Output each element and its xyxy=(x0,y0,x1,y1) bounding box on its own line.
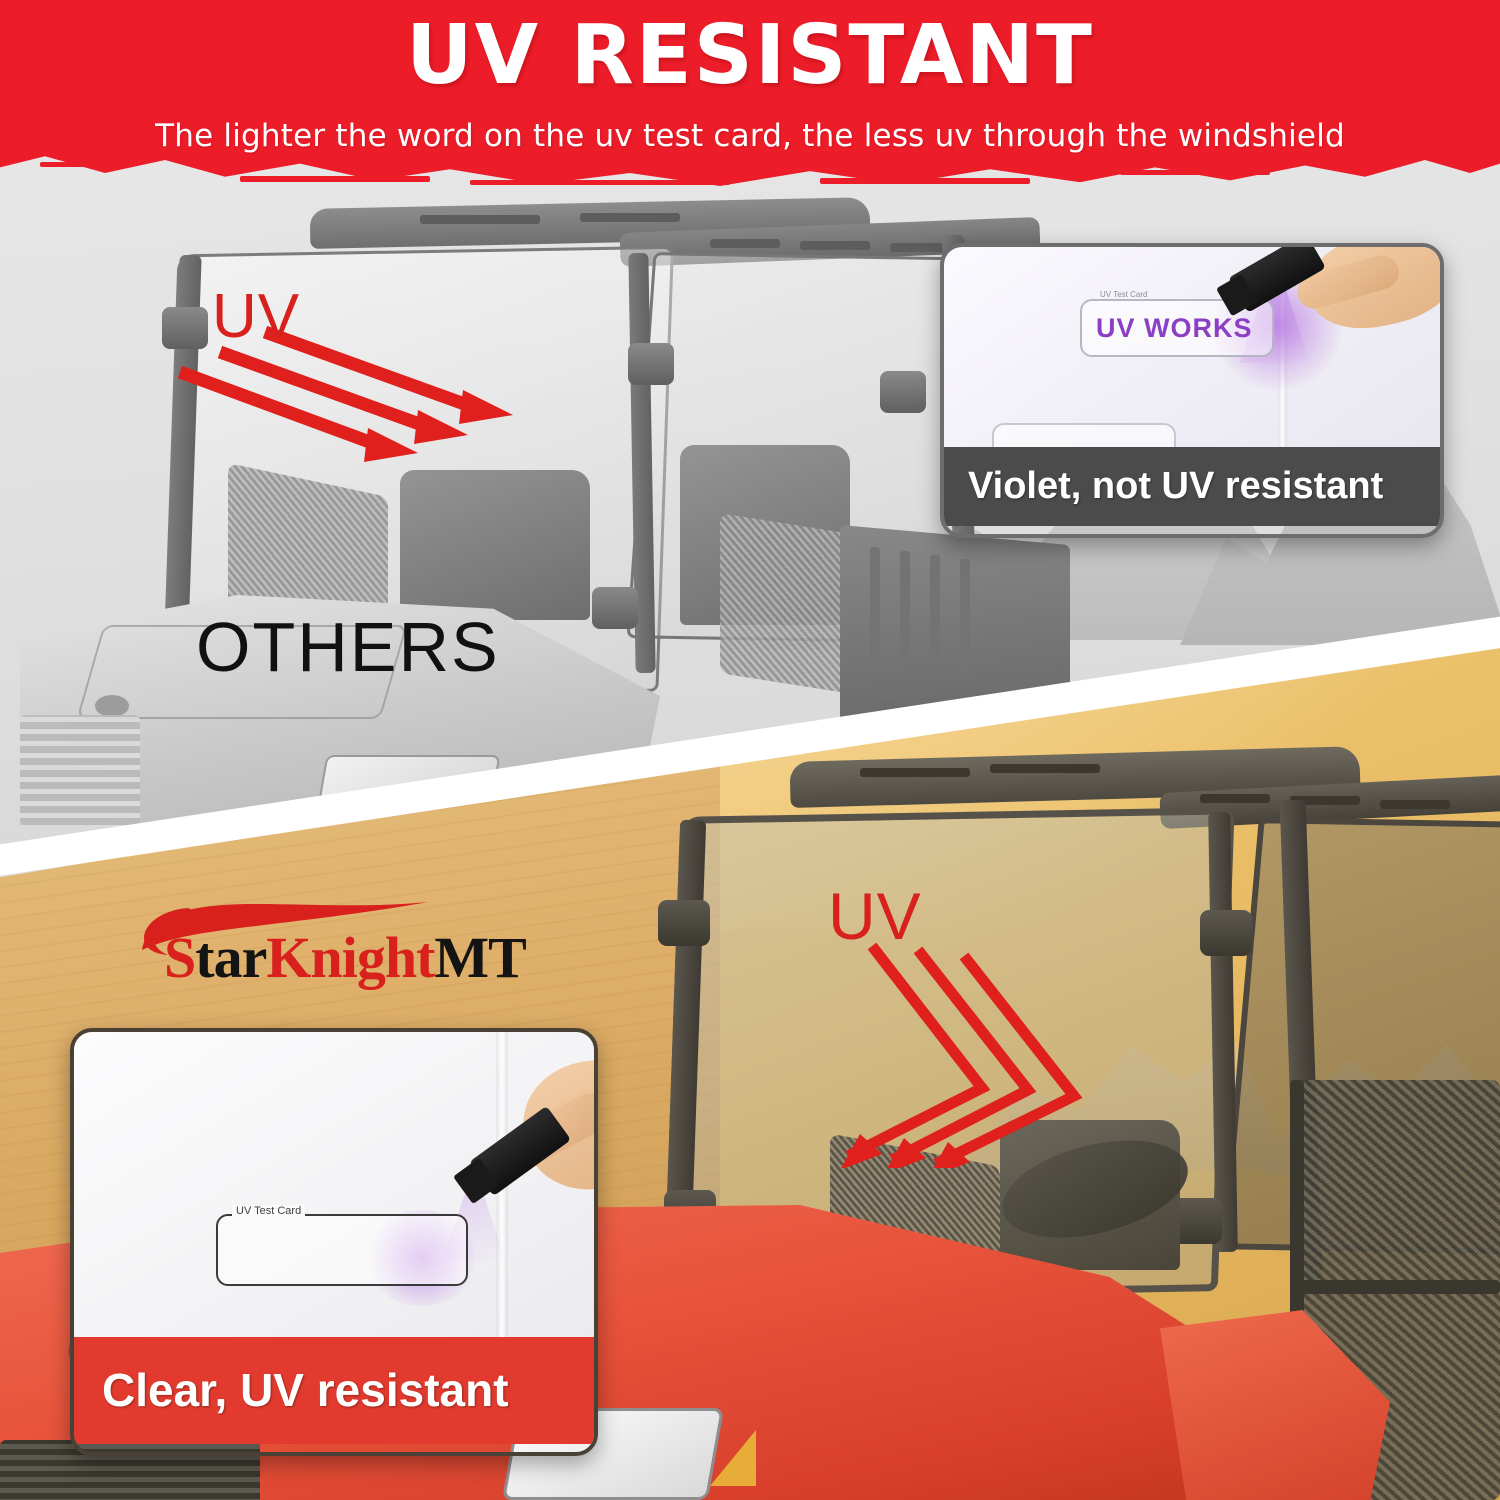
roof-vent xyxy=(580,213,680,222)
roof-vent xyxy=(1380,800,1450,809)
windshield-clamp xyxy=(628,343,674,385)
roof-vent xyxy=(1200,794,1270,803)
roof-vent xyxy=(420,215,540,224)
paint-fleck xyxy=(240,176,430,182)
caption-uv-resistant: Clear, UV resistant xyxy=(74,1337,594,1444)
roof-vent xyxy=(710,239,780,248)
roof-vent xyxy=(990,764,1100,773)
inset-card-not-uv-resistant: UV Test Card UV WORKS Violet, not UV res… xyxy=(940,243,1444,538)
uv-deflected-arrows xyxy=(830,938,1130,1168)
uv-test-photo-violet: UV Test Card UV WORKS xyxy=(944,247,1440,447)
bed-rib xyxy=(960,559,970,679)
uv-test-card-label: UV Test Card xyxy=(1096,290,1151,299)
logo-part-mt: MT xyxy=(434,925,525,990)
uv-label-bottom: UV xyxy=(828,878,922,954)
page-subtitle: The lighter the word on the uv test card… xyxy=(0,118,1500,154)
uv-test-card-secondary xyxy=(992,423,1176,447)
others-label: OTHERS xyxy=(196,607,500,687)
paint-fleck xyxy=(820,178,1030,184)
uv-label-top: UV xyxy=(212,281,300,352)
page-title: UV RESISTANT xyxy=(0,8,1500,103)
windshield-clamp xyxy=(592,587,638,629)
logo-part-s: S xyxy=(164,925,195,990)
seat xyxy=(400,470,590,620)
roof-vent xyxy=(860,768,970,777)
logo-part-tar: tar xyxy=(195,925,266,990)
header-banner: UV RESISTANT The lighter the word on the… xyxy=(0,0,1500,186)
cage-bar xyxy=(1290,1280,1500,1294)
roof-vent xyxy=(800,241,870,250)
fuel-cap xyxy=(95,695,129,717)
utv-vehicle-grayscale: RANGER xyxy=(20,195,1000,815)
paint-fleck xyxy=(40,162,120,167)
logo-wordmark: StarKnightMT xyxy=(164,924,526,991)
paint-fleck xyxy=(1120,170,1270,175)
uv-test-card-label: UV Test Card xyxy=(232,1205,305,1217)
windshield-clamp xyxy=(658,900,710,946)
bed-rib xyxy=(900,551,910,671)
windshield-clamp xyxy=(1200,910,1252,956)
front-grille xyxy=(20,715,140,825)
windshield-clamp xyxy=(880,371,926,413)
inset-card-uv-resistant: UV Test Card Clear, UV resistant xyxy=(70,1028,598,1456)
paint-fleck xyxy=(470,180,730,185)
caption-not-uv-resistant: Violet, not UV resistant xyxy=(944,447,1440,526)
bed-rib xyxy=(930,555,940,675)
bed-rib xyxy=(870,547,880,667)
uv-test-card-word: UV WORKS xyxy=(1096,313,1253,344)
product-infographic: RANGER UV OTHERS xyxy=(0,0,1500,1500)
logo-part-knight: Knight xyxy=(266,925,434,990)
warning-triangle xyxy=(710,1430,756,1486)
brand-logo-starknightmt: StarKnightMT xyxy=(128,898,548,994)
uv-test-card: UV Test Card xyxy=(216,1214,468,1286)
uv-test-photo-clear: UV Test Card xyxy=(74,1032,594,1337)
